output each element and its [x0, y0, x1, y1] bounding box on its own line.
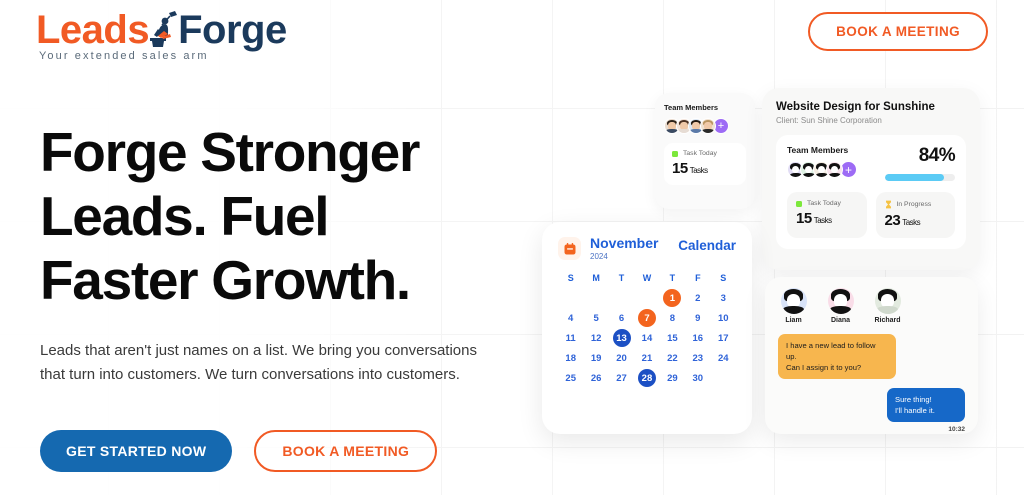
calendar-day-13[interactable]: 13 — [613, 329, 631, 347]
stat-value: 15Tasks — [672, 160, 738, 177]
calendar-day-10[interactable]: 10 — [714, 309, 732, 327]
green-square-icon — [672, 151, 678, 157]
calendar-day-17[interactable]: 17 — [714, 329, 732, 347]
progress-percent: 84% — [885, 145, 955, 167]
avatar[interactable] — [828, 288, 854, 314]
calendar-label: Calendar — [678, 238, 736, 253]
calendar-day-cell[interactable]: 28 — [634, 368, 659, 388]
chat-person-name: Richard — [872, 317, 903, 324]
hero-book-meeting-button[interactable]: BOOK A MEETING — [254, 430, 437, 472]
calendar-header: November 2024 Calendar — [558, 236, 736, 261]
calendar-day-cell[interactable]: 23 — [685, 348, 710, 368]
calendar-day-1[interactable]: 1 — [663, 289, 681, 307]
progress-bar — [885, 174, 955, 181]
headline-line-3: Faster Growth. — [40, 249, 410, 311]
chat-person-name: Diana — [825, 317, 856, 324]
project-title: Website Design for Sunshine — [776, 101, 966, 113]
avatar[interactable] — [700, 118, 716, 134]
calendar-day-cell[interactable]: 11 — [558, 328, 583, 348]
headline-line-1: Forge Stronger — [40, 121, 419, 183]
calendar-empty-cell — [634, 288, 659, 308]
stat-value: 15Tasks — [796, 210, 858, 227]
calendar-day-cell[interactable]: 17 — [711, 328, 736, 348]
calendar-day-cell[interactable]: 15 — [660, 328, 685, 348]
stat-label-text: Task Today — [807, 200, 841, 207]
stat-label-row: In Progress — [885, 200, 947, 209]
calendar-weekday-2: T — [609, 269, 634, 288]
headline-line-2: Leads. Fuel — [40, 185, 328, 247]
calendar-day-cell[interactable]: 6 — [609, 308, 634, 328]
calendar-day-12[interactable]: 12 — [587, 329, 605, 347]
logo-wordmark: Leads Forge — [36, 8, 251, 52]
calendar-icon — [558, 237, 581, 260]
calendar-day-3[interactable]: 3 — [714, 289, 732, 307]
stat-unit: Tasks — [814, 216, 832, 225]
team-members-mini-card[interactable]: Team Members + Task Today 15Tasks — [655, 93, 755, 209]
project-team-block: Team Members — [787, 145, 857, 178]
page-title: Forge Stronger Leads. Fuel Faster Growth… — [40, 120, 510, 312]
calendar-day-cell[interactable]: 16 — [685, 328, 710, 348]
green-square-icon — [796, 201, 802, 207]
calendar-day-15[interactable]: 15 — [663, 329, 681, 347]
calendar-week-row: 45678910 — [558, 308, 736, 328]
calendar-weekday-1: M — [583, 269, 608, 288]
logo[interactable]: Leads Forge Your exten — [36, 8, 251, 62]
progress-bar-fill — [885, 174, 944, 181]
calendar-day-2[interactable]: 2 — [689, 289, 707, 307]
project-inner-panel: Team Members — [776, 135, 966, 249]
project-stat-in-progress: In Progress 23Tasks — [876, 192, 956, 238]
hero-paragraph: Leads that aren't just names on a list. … — [40, 339, 480, 387]
calendar-day-27[interactable]: 27 — [613, 369, 631, 387]
calendar-day-cell[interactable]: 8 — [660, 308, 685, 328]
task-today-stat: Task Today 15Tasks — [664, 143, 746, 185]
project-avatar-row: + — [787, 161, 857, 178]
hourglass-icon — [885, 200, 892, 209]
calendar-empty-cell — [609, 288, 634, 308]
landing-page: Leads Forge Your exten — [0, 0, 1024, 495]
calendar-day-cell[interactable]: 25 — [558, 368, 583, 388]
calendar-month-block: November 2024 — [590, 236, 658, 261]
project-stat-task-today: Task Today 15Tasks — [787, 192, 867, 238]
stat-number: 15 — [672, 160, 688, 177]
calendar-week-row: 123 — [558, 288, 736, 308]
hero-section: Forge Stronger Leads. Fuel Faster Growth… — [40, 120, 510, 472]
avatar[interactable] — [875, 288, 901, 314]
calendar-day-cell[interactable]: 26 — [583, 368, 608, 388]
calendar-day-14[interactable]: 14 — [638, 329, 656, 347]
chat-message-line: I have a new lead to follow up. — [786, 340, 888, 362]
get-started-button[interactable]: GET STARTED NOW — [40, 430, 232, 472]
calendar-weekday-0: S — [558, 269, 583, 288]
hero-actions: GET STARTED NOW BOOK A MEETING — [40, 430, 510, 472]
stat-label-row: Task Today — [796, 200, 858, 207]
calendar-day-24[interactable]: 24 — [714, 349, 732, 367]
header-book-meeting-button[interactable]: BOOK A MEETING — [808, 12, 988, 51]
calendar-day-cell[interactable]: 22 — [660, 348, 685, 368]
calendar-day-cell[interactable]: 13 — [609, 328, 634, 348]
chat-message-incoming: I have a new lead to follow up. Can I as… — [778, 334, 896, 379]
team-mini-title: Team Members — [664, 103, 746, 112]
calendar-weekday-row: SMTWTFS — [558, 269, 736, 288]
calendar-day-cell[interactable]: 27 — [609, 368, 634, 388]
calendar-weekday-4: T — [660, 269, 685, 288]
chat-person-diana[interactable]: Diana — [825, 288, 856, 324]
calendar-week-row: 252627282930 — [558, 368, 736, 388]
calendar-day-22[interactable]: 22 — [663, 349, 681, 367]
calendar-day-cell[interactable]: 14 — [634, 328, 659, 348]
calendar-year: 2024 — [590, 252, 658, 261]
calendar-empty-cell — [583, 288, 608, 308]
calendar-month: November — [590, 236, 658, 251]
chat-person-name: Liam — [778, 317, 809, 324]
calendar-day-26[interactable]: 26 — [587, 369, 605, 387]
calendar-day-cell[interactable]: 20 — [609, 348, 634, 368]
stat-unit: Tasks — [902, 218, 920, 227]
calendar-grid: SMTWTFS 12345678910111213141516171819202… — [558, 269, 736, 388]
blacksmith-icon — [146, 10, 180, 50]
chat-people-row: Liam Diana Richard — [778, 288, 965, 324]
calendar-weekday-6: S — [711, 269, 736, 288]
stat-unit: Tasks — [690, 166, 708, 175]
calendar-day-cell[interactable]: 18 — [558, 348, 583, 368]
chat-message-line: I'll handle it. — [895, 405, 957, 416]
project-stats-row: Task Today 15Tasks In Progress — [787, 192, 955, 238]
project-card[interactable]: Website Design for Sunshine Client: Sun … — [762, 88, 980, 270]
calendar-day-cell[interactable]: 19 — [583, 348, 608, 368]
calendar-day-11[interactable]: 11 — [562, 329, 580, 347]
project-client: Client: Sun Shine Corporation — [776, 116, 966, 125]
calendar-day-cell[interactable]: 9 — [685, 308, 710, 328]
calendar-day-cell[interactable]: 1 — [660, 288, 685, 308]
logo-text-leads: Leads — [36, 8, 149, 52]
chat-person-liam[interactable]: Liam — [778, 288, 809, 324]
stat-label-text: Task Today — [683, 150, 717, 157]
calendar-day-21[interactable]: 21 — [638, 349, 656, 367]
calendar-card[interactable]: November 2024 Calendar SMTWTFS 123456789… — [542, 222, 752, 434]
chat-person-richard[interactable]: Richard — [872, 288, 903, 324]
stat-number: 15 — [796, 210, 812, 227]
calendar-empty-cell — [558, 288, 583, 308]
chat-message-line: Sure thing! — [895, 394, 957, 405]
project-team-label: Team Members — [787, 145, 857, 155]
calendar-day-28[interactable]: 28 — [638, 369, 656, 387]
stat-label-row: Task Today — [672, 150, 738, 157]
stat-label-text: In Progress — [897, 201, 932, 208]
calendar-day-23[interactable]: 23 — [689, 349, 707, 367]
chat-message-line: Can I assign it to you? — [786, 362, 888, 373]
calendar-day-29[interactable]: 29 — [663, 369, 681, 387]
project-top-row: Team Members — [787, 145, 955, 181]
calendar-day-5[interactable]: 5 — [587, 309, 605, 327]
calendar-day-18[interactable]: 18 — [562, 349, 580, 367]
calendar-day-cell[interactable]: 3 — [711, 288, 736, 308]
calendar-day-16[interactable]: 16 — [689, 329, 707, 347]
chat-timestamp: 10:32 — [778, 426, 965, 433]
calendar-day-8[interactable]: 8 — [663, 309, 681, 327]
calendar-day-cell[interactable]: 12 — [583, 328, 608, 348]
calendar-day-cell[interactable]: 29 — [660, 368, 685, 388]
calendar-day-25[interactable]: 25 — [562, 369, 580, 387]
calendar-day-cell[interactable]: 10 — [711, 308, 736, 328]
calendar-day-cell[interactable]: 4 — [558, 308, 583, 328]
calendar-day-30[interactable]: 30 — [689, 369, 707, 387]
chat-message-outgoing: Sure thing! I'll handle it. — [887, 388, 965, 422]
calendar-day-cell[interactable]: 2 — [685, 288, 710, 308]
calendar-day-20[interactable]: 20 — [613, 349, 631, 367]
calendar-day-cell[interactable]: 21 — [634, 348, 659, 368]
calendar-day-4[interactable]: 4 — [562, 309, 580, 327]
logo-text-forge: Forge — [178, 8, 287, 52]
calendar-week-row: 11121314151617 — [558, 328, 736, 348]
calendar-day-7[interactable]: 7 — [638, 309, 656, 327]
avatar[interactable] — [826, 161, 843, 178]
calendar-weekday-5: F — [685, 269, 710, 288]
calendar-day-cell[interactable]: 24 — [711, 348, 736, 368]
calendar-empty-cell — [711, 368, 736, 388]
team-mini-avatar-row: + — [664, 118, 746, 134]
site-header: Leads Forge Your exten — [0, 0, 1024, 72]
calendar-day-cell[interactable]: 7 — [634, 308, 659, 328]
calendar-day-19[interactable]: 19 — [587, 349, 605, 367]
calendar-day-cell[interactable]: 30 — [685, 368, 710, 388]
calendar-day-cell[interactable]: 5 — [583, 308, 608, 328]
calendar-body: 1234567891011121314151617181920212223242… — [558, 288, 736, 388]
project-progress-block: 84% — [885, 145, 955, 181]
avatar[interactable] — [781, 288, 807, 314]
calendar-week-row: 18192021222324 — [558, 348, 736, 368]
calendar-day-9[interactable]: 9 — [689, 309, 707, 327]
stat-value: 23Tasks — [885, 212, 947, 229]
stat-number: 23 — [885, 212, 901, 229]
chat-card[interactable]: Liam Diana Richard I have a new lead to … — [765, 277, 978, 434]
calendar-weekday-3: W — [634, 269, 659, 288]
calendar-day-6[interactable]: 6 — [613, 309, 631, 327]
